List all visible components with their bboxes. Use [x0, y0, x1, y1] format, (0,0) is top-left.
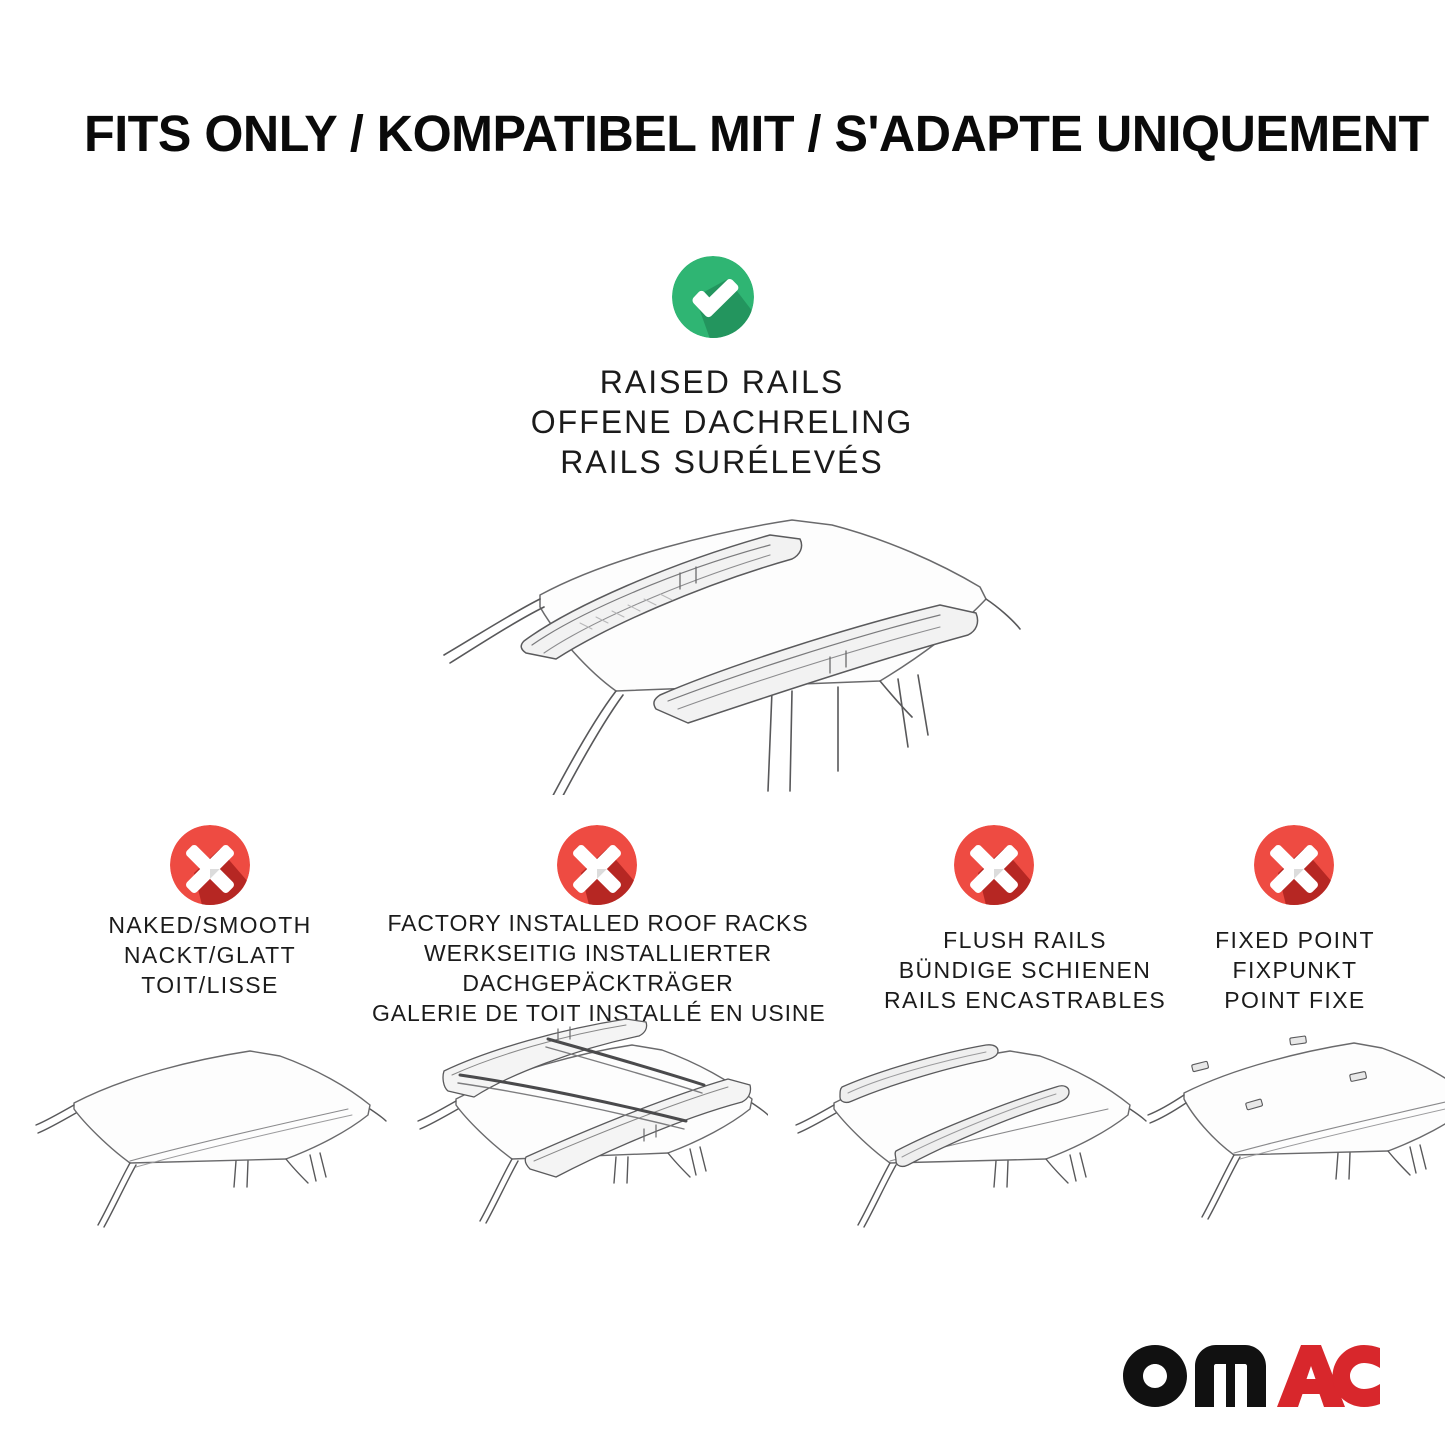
incompatible-caption-factory-racks: FACTORY INSTALLED ROOF RACKS WERKSEITIG …	[372, 908, 824, 1028]
incompatible-caption-naked-smooth: NAKED/SMOOTH NACKT/GLATT TOIT/LISSE	[40, 910, 380, 1000]
cross-circle-icon	[954, 825, 1034, 905]
page-title: FITS ONLY / KOMPATIBEL MIT / S'ADAPTE UN…	[84, 104, 1355, 164]
incompatible-caption-fixed-point: FIXED POINT FIXPUNKT POINT FIXE	[1145, 925, 1445, 1015]
fitment-compatibility-graphic: FITS ONLY / KOMPATIBEL MIT / S'ADAPTE UN…	[0, 0, 1445, 1445]
caption-line: RAILS ENCASTRABLES	[855, 985, 1195, 1015]
omac-logo	[1123, 1345, 1383, 1407]
car-roof-factory-roof-racks-illustration	[398, 1013, 768, 1248]
caption-line: FACTORY INSTALLED ROOF RACKS	[372, 908, 824, 938]
compatible-caption-line-1: RAISED RAILS	[422, 362, 1022, 402]
caption-line: DACHGEPÄCKTRÄGER	[372, 968, 824, 998]
compatible-caption-line-2: OFFENE DACHRELING	[422, 402, 1022, 442]
caption-line: NACKT/GLATT	[40, 940, 380, 970]
cross-circle-icon	[170, 825, 250, 905]
caption-line: FLUSH RAILS	[855, 925, 1195, 955]
caption-line: POINT FIXE	[1145, 985, 1445, 1015]
cross-circle-icon	[557, 825, 637, 905]
car-roof-naked-smooth-illustration	[18, 1025, 388, 1250]
caption-line: WERKSEITIG INSTALLIERTER	[372, 938, 824, 968]
cross-circle-icon	[1254, 825, 1334, 905]
check-circle-icon	[672, 256, 754, 338]
caption-line: BÜNDIGE SCHIENEN	[855, 955, 1195, 985]
car-roof-fixed-point-illustration	[1138, 1025, 1445, 1250]
caption-line: FIXPUNKT	[1145, 955, 1445, 985]
caption-line: NAKED/SMOOTH	[40, 910, 380, 940]
car-roof-raised-rails-illustration	[420, 495, 1040, 795]
caption-line: FIXED POINT	[1145, 925, 1445, 955]
car-roof-flush-rails-illustration	[778, 1025, 1148, 1250]
compatible-caption-line-3: RAILS SURÉLEVÉS	[422, 442, 1022, 482]
incompatible-caption-flush-rails: FLUSH RAILS BÜNDIGE SCHIENEN RAILS ENCAS…	[855, 925, 1195, 1015]
caption-line: TOIT/LISSE	[40, 970, 380, 1000]
compatible-caption: RAISED RAILS OFFENE DACHRELING RAILS SUR…	[422, 362, 1022, 482]
